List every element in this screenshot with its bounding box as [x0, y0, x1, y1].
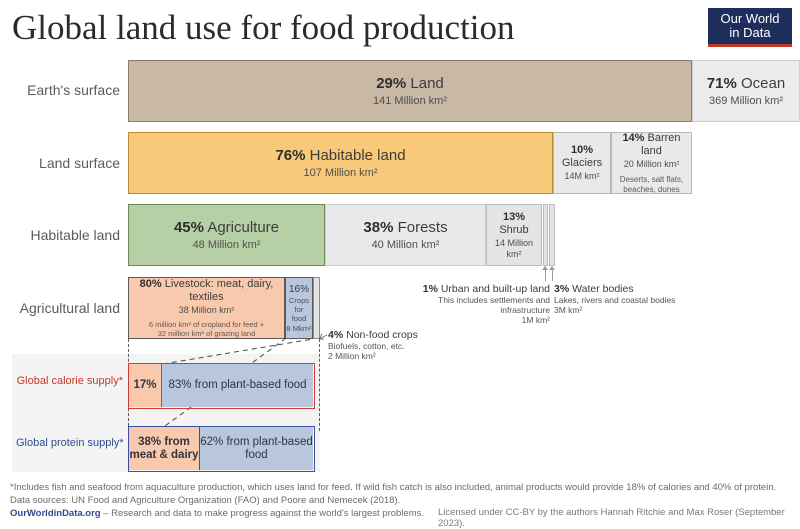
segment-barren-land-note: Deserts, salt flats, beaches, dunes: [620, 175, 684, 195]
segment-agriculture[interactable]: 45% Agriculture 48 Million km²: [128, 204, 325, 266]
owid-link[interactable]: OurWorldinData.org: [10, 508, 101, 519]
segment-shrub[interactable]: 13% Shrub 14 Million km²: [486, 204, 542, 266]
segment-agriculture-heading: 45% Agriculture: [174, 219, 279, 237]
segment-glaciers-value: 14M km²: [564, 171, 599, 182]
protein-plant-segment[interactable]: 62% from plant-based food: [200, 427, 313, 470]
segment-forests-value: 40 Million km²: [372, 238, 440, 252]
infographic-root: Global land use for food production Our …: [0, 0, 800, 523]
label-global-calorie-supply: Global calorie supply*: [16, 375, 123, 387]
calorie-plant-text: 83% from plant-based food: [168, 379, 306, 392]
protein-plant-text: 62% from plant-based food: [200, 436, 313, 462]
segment-water-bodies[interactable]: [549, 204, 555, 266]
segment-ocean-value: 369 Million km²: [709, 94, 783, 108]
segment-ocean-percent: 71%: [707, 75, 737, 92]
annotation-non-food-crops-desc: Biofuels, cotton, etc.: [328, 341, 468, 351]
annotation-water-bodies: 3% Water bodies Lakes, rivers and coasta…: [554, 283, 704, 315]
segment-livestock-percent: 80%: [140, 278, 162, 290]
annotation-urban-percent: 1%: [423, 283, 438, 295]
segment-land-title: Land: [406, 75, 444, 92]
segment-livestock-heading: 80% Livestock: meat, dairy, textiles: [129, 278, 284, 304]
annotation-urban-title: Urban and built-up land: [438, 283, 550, 295]
segment-land-heading: 29% Land: [376, 75, 444, 93]
annotation-water-percent: 3%: [554, 283, 569, 295]
band-earths-surface: 29% Land 141 Million km² 71% Ocean 369 M…: [128, 60, 800, 122]
segment-ocean-heading: 71% Ocean: [707, 75, 785, 93]
owid-logo-line2: in Data: [729, 26, 770, 40]
segment-habitable-land-value: 107 Million km²: [304, 166, 378, 180]
annotation-water-heading: 3% Water bodies: [554, 283, 704, 295]
footer-line-2: Data sources: UN Food and Agriculture Or…: [10, 494, 790, 507]
owid-logo: Our World in Data: [708, 8, 792, 44]
band-habitable-land: 45% Agriculture 48 Million km² 38% Fores…: [128, 204, 555, 266]
page-title: Global land use for food production: [12, 6, 515, 50]
band-agricultural-land: 80% Livestock: meat, dairy, textiles 38 …: [128, 277, 320, 339]
annotation-urban-value: 1M km²: [395, 315, 550, 325]
segment-glaciers-heading: 10% Glaciers: [554, 144, 610, 170]
segment-agriculture-value: 48 Million km²: [193, 238, 261, 252]
segment-crops-for-food[interactable]: 16% Crops for food 8 Mkm²: [285, 277, 313, 339]
owid-logo-line1: Our World: [721, 12, 780, 26]
segment-habitable-land[interactable]: 76% Habitable land 107 Million km²: [128, 132, 553, 194]
leader-arrow-urban: [542, 266, 548, 270]
row-label-earths-surface: Earth's surface: [8, 82, 120, 98]
segment-glaciers-percent: 10%: [571, 144, 593, 156]
dashed-connector-right: [319, 339, 320, 431]
calorie-animal-text: 17%: [133, 379, 156, 392]
segment-livestock[interactable]: 80% Livestock: meat, dairy, textiles 38 …: [128, 277, 285, 339]
bar-global-calorie-supply: 17% 83% from plant-based food: [128, 363, 315, 409]
footer-line-3: OurWorldinData.org – Research and data t…: [10, 507, 510, 520]
footer-tagline: – Research and data to make progress aga…: [101, 508, 424, 519]
segment-agriculture-title: Agriculture: [204, 219, 279, 236]
non-food-crops-pointer-icon: [313, 330, 331, 342]
segment-land[interactable]: 29% Land 141 Million km²: [128, 60, 692, 122]
bar-global-protein-supply: 38% from meat & dairy 62% from plant-bas…: [128, 426, 315, 472]
segment-land-percent: 29%: [376, 75, 406, 92]
footer-line-1: *Includes fish and seafood from aquacult…: [10, 481, 790, 494]
segment-shrub-heading: 13% Shrub: [487, 211, 541, 237]
segment-livestock-title: Livestock: meat, dairy, textiles: [162, 278, 274, 303]
segment-crops-for-food-title: Crops for food: [286, 296, 312, 323]
owid-logo-underline: [708, 44, 792, 47]
annotation-urban-built-up-land: 1% Urban and built-up land This includes…: [395, 283, 550, 325]
segment-crops-for-food-value: 8 Mkm²: [287, 324, 312, 333]
annotation-urban-desc: This includes settlements and infrastruc…: [395, 295, 550, 315]
row-label-agricultural-land: Agricultural land: [2, 300, 120, 316]
segment-forests-heading: 38% Forests: [363, 219, 447, 237]
segment-glaciers-title: Glaciers: [562, 157, 602, 169]
segment-agriculture-percent: 45%: [174, 219, 204, 236]
segment-shrub-title: Shrub: [499, 224, 528, 236]
segment-barren-land-title: Barren land: [641, 132, 680, 157]
segment-shrub-value: 14 Million km²: [487, 238, 541, 260]
segment-glaciers[interactable]: 10% Glaciers 14M km²: [553, 132, 611, 194]
annotation-urban-heading: 1% Urban and built-up land: [395, 283, 550, 295]
annotation-water-title: Water bodies: [569, 283, 633, 295]
segment-forests-percent: 38%: [363, 219, 393, 236]
calorie-animal-segment[interactable]: 17%: [129, 364, 162, 407]
segment-barren-land-heading: 14% Barren land: [612, 132, 691, 158]
annotation-water-desc: Lakes, rivers and coastal bodies: [554, 295, 704, 305]
annotation-non-food-crops-value: 2 Million km²: [328, 351, 468, 361]
segment-crops-for-food-percent: 16%: [289, 284, 309, 295]
segment-barren-land-value: 20 Million km²: [624, 159, 680, 170]
row-label-land-surface: Land surface: [8, 155, 120, 171]
segment-urban-built-up-land[interactable]: [543, 204, 548, 266]
band-land-surface: 76% Habitable land 107 Million km² 10% G…: [128, 132, 692, 194]
segment-shrub-percent: 13%: [503, 211, 525, 223]
segment-barren-land-percent: 14%: [622, 132, 644, 144]
leader-arrow-water: [549, 266, 555, 270]
annotation-non-food-crops: 4% Non-food crops Biofuels, cotton, etc.…: [328, 329, 468, 361]
segment-habitable-land-heading: 76% Habitable land: [275, 147, 405, 165]
segment-land-value: 141 Million km²: [373, 94, 447, 108]
protein-animal-segment[interactable]: 38% from meat & dairy: [129, 427, 200, 470]
annotation-water-value: 3M km²: [554, 305, 704, 315]
segment-barren-land[interactable]: 14% Barren land 20 Million km² Deserts, …: [611, 132, 692, 194]
segment-forests-title: Forests: [393, 219, 447, 236]
footer-license: Licensed under CC-BY by the authors Hann…: [438, 507, 798, 529]
annotation-non-food-crops-heading: 4% Non-food crops: [328, 329, 468, 341]
calorie-plant-segment[interactable]: 83% from plant-based food: [162, 364, 313, 407]
segment-ocean[interactable]: 71% Ocean 369 Million km²: [692, 60, 800, 122]
segment-ocean-title: Ocean: [737, 75, 785, 92]
segment-habitable-land-title: Habitable land: [305, 147, 405, 164]
segment-livestock-note: 6 million km² of cropland for feed + 32 …: [149, 320, 264, 339]
segment-habitable-land-percent: 76%: [275, 147, 305, 164]
label-global-protein-supply: Global protein supply*: [16, 437, 123, 449]
row-label-habitable-land: Habitable land: [8, 227, 120, 243]
protein-animal-text: 38% from meat & dairy: [129, 436, 199, 462]
annotation-non-food-crops-title: Non-food crops: [343, 329, 418, 341]
segment-livestock-value: 38 Million km²: [179, 305, 235, 316]
segment-forests[interactable]: 38% Forests 40 Million km²: [325, 204, 486, 266]
